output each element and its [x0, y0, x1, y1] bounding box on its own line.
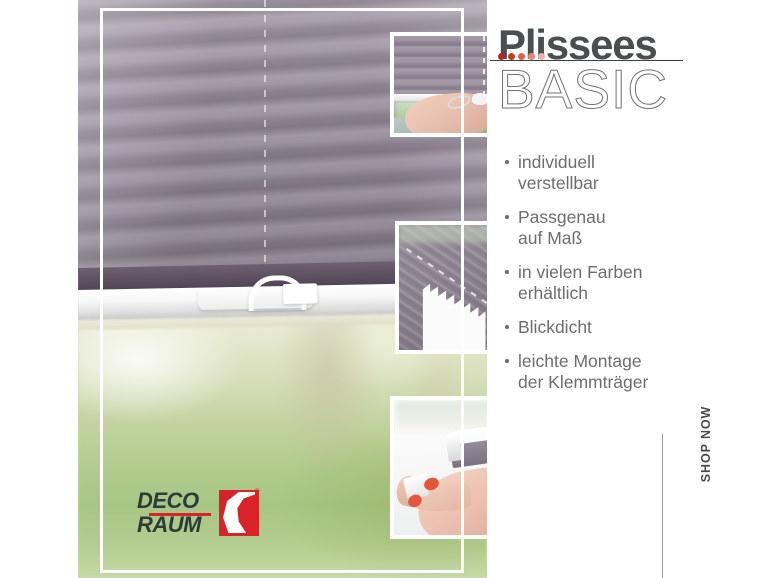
- inset1-cord-line: [483, 36, 485, 100]
- feature-list-item: in vielen Farbenerhältlich: [501, 262, 756, 304]
- promo-banner: DECO RAUM ® Plissees BASIC individuellve…: [0, 0, 770, 578]
- inset3-window-light: [394, 400, 487, 430]
- logo-red-underline: [149, 513, 211, 516]
- feature-list: individuellverstellbarPassgenauauf Maßin…: [501, 152, 756, 406]
- content-panel: Plissees BASIC individuellverstellbarPas…: [487, 0, 770, 578]
- feature-list-item: Passgenauauf Maß: [501, 207, 756, 249]
- feature-list-item: Blickdicht: [501, 317, 756, 338]
- logo-trademark-symbol: ®: [255, 489, 259, 495]
- inset-photo-clamp-bracket-installation: [390, 396, 487, 539]
- feature-list-item: leichte Montageder Klemmträger: [501, 351, 756, 393]
- inset-photo-pleated-fabric-closeup: [395, 221, 487, 354]
- feature-list-item: individuellverstellbar: [501, 152, 756, 194]
- blind-cord-line: [264, 0, 266, 292]
- inset1-blind-pleats: [394, 36, 487, 96]
- shop-now-button[interactable]: SHOP NOW: [699, 374, 715, 514]
- inset-photo-hand-adjusting-blind: [390, 32, 487, 137]
- decorative-frame-bottom: [100, 570, 464, 573]
- inset2-top-light: [399, 225, 487, 243]
- cta-divider-line: [662, 434, 663, 578]
- logo-line-1: DECO: [137, 490, 199, 512]
- blind-rail-tab: [283, 283, 317, 304]
- headline-title: BASIC: [498, 60, 668, 118]
- decorative-dots: [498, 23, 562, 35]
- logo-line-2: RAUM: [137, 514, 201, 536]
- inset1-grip-handle: [472, 93, 487, 105]
- decoraum-logo[interactable]: DECO RAUM ®: [137, 489, 257, 539]
